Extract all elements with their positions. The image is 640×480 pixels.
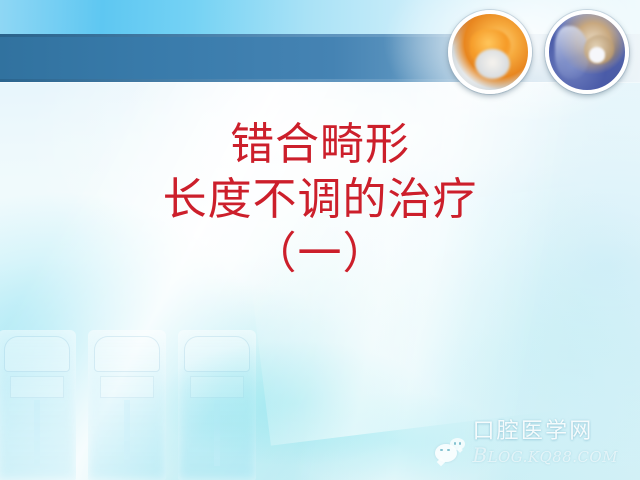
slide-title: 错合畸形 长度不调的治疗 （一） [0,118,640,282]
presentation-slide: 错合畸形 长度不调的治疗 （一） 口腔医学网 BLOG.KQ88.COM [0,0,640,480]
dental-instruments-photo [448,10,532,94]
wechat-dot [447,449,450,452]
watermark-url-initial: B [472,443,487,467]
wechat-bubble-small [450,438,465,450]
watermark-site-url: BLOG.KQ88.COM [472,444,618,466]
photo-highlight [589,47,606,62]
watermark-site-name: 口腔医学网 [472,421,593,443]
wechat-dot [440,449,443,452]
title-line-1: 错合畸形 [0,118,640,173]
title-line-3: （一） [0,227,640,282]
wechat-icon [435,438,465,462]
watermark-url-rest: LOG.KQ88.COM [488,448,618,466]
site-watermark: 口腔医学网 BLOG.KQ88.COM [435,421,618,466]
photo-highlight [475,49,510,79]
watermark-text: 口腔医学网 BLOG.KQ88.COM [472,421,618,466]
dentist-at-work-photo [545,10,629,94]
title-line-2: 长度不调的治疗 [0,173,640,228]
